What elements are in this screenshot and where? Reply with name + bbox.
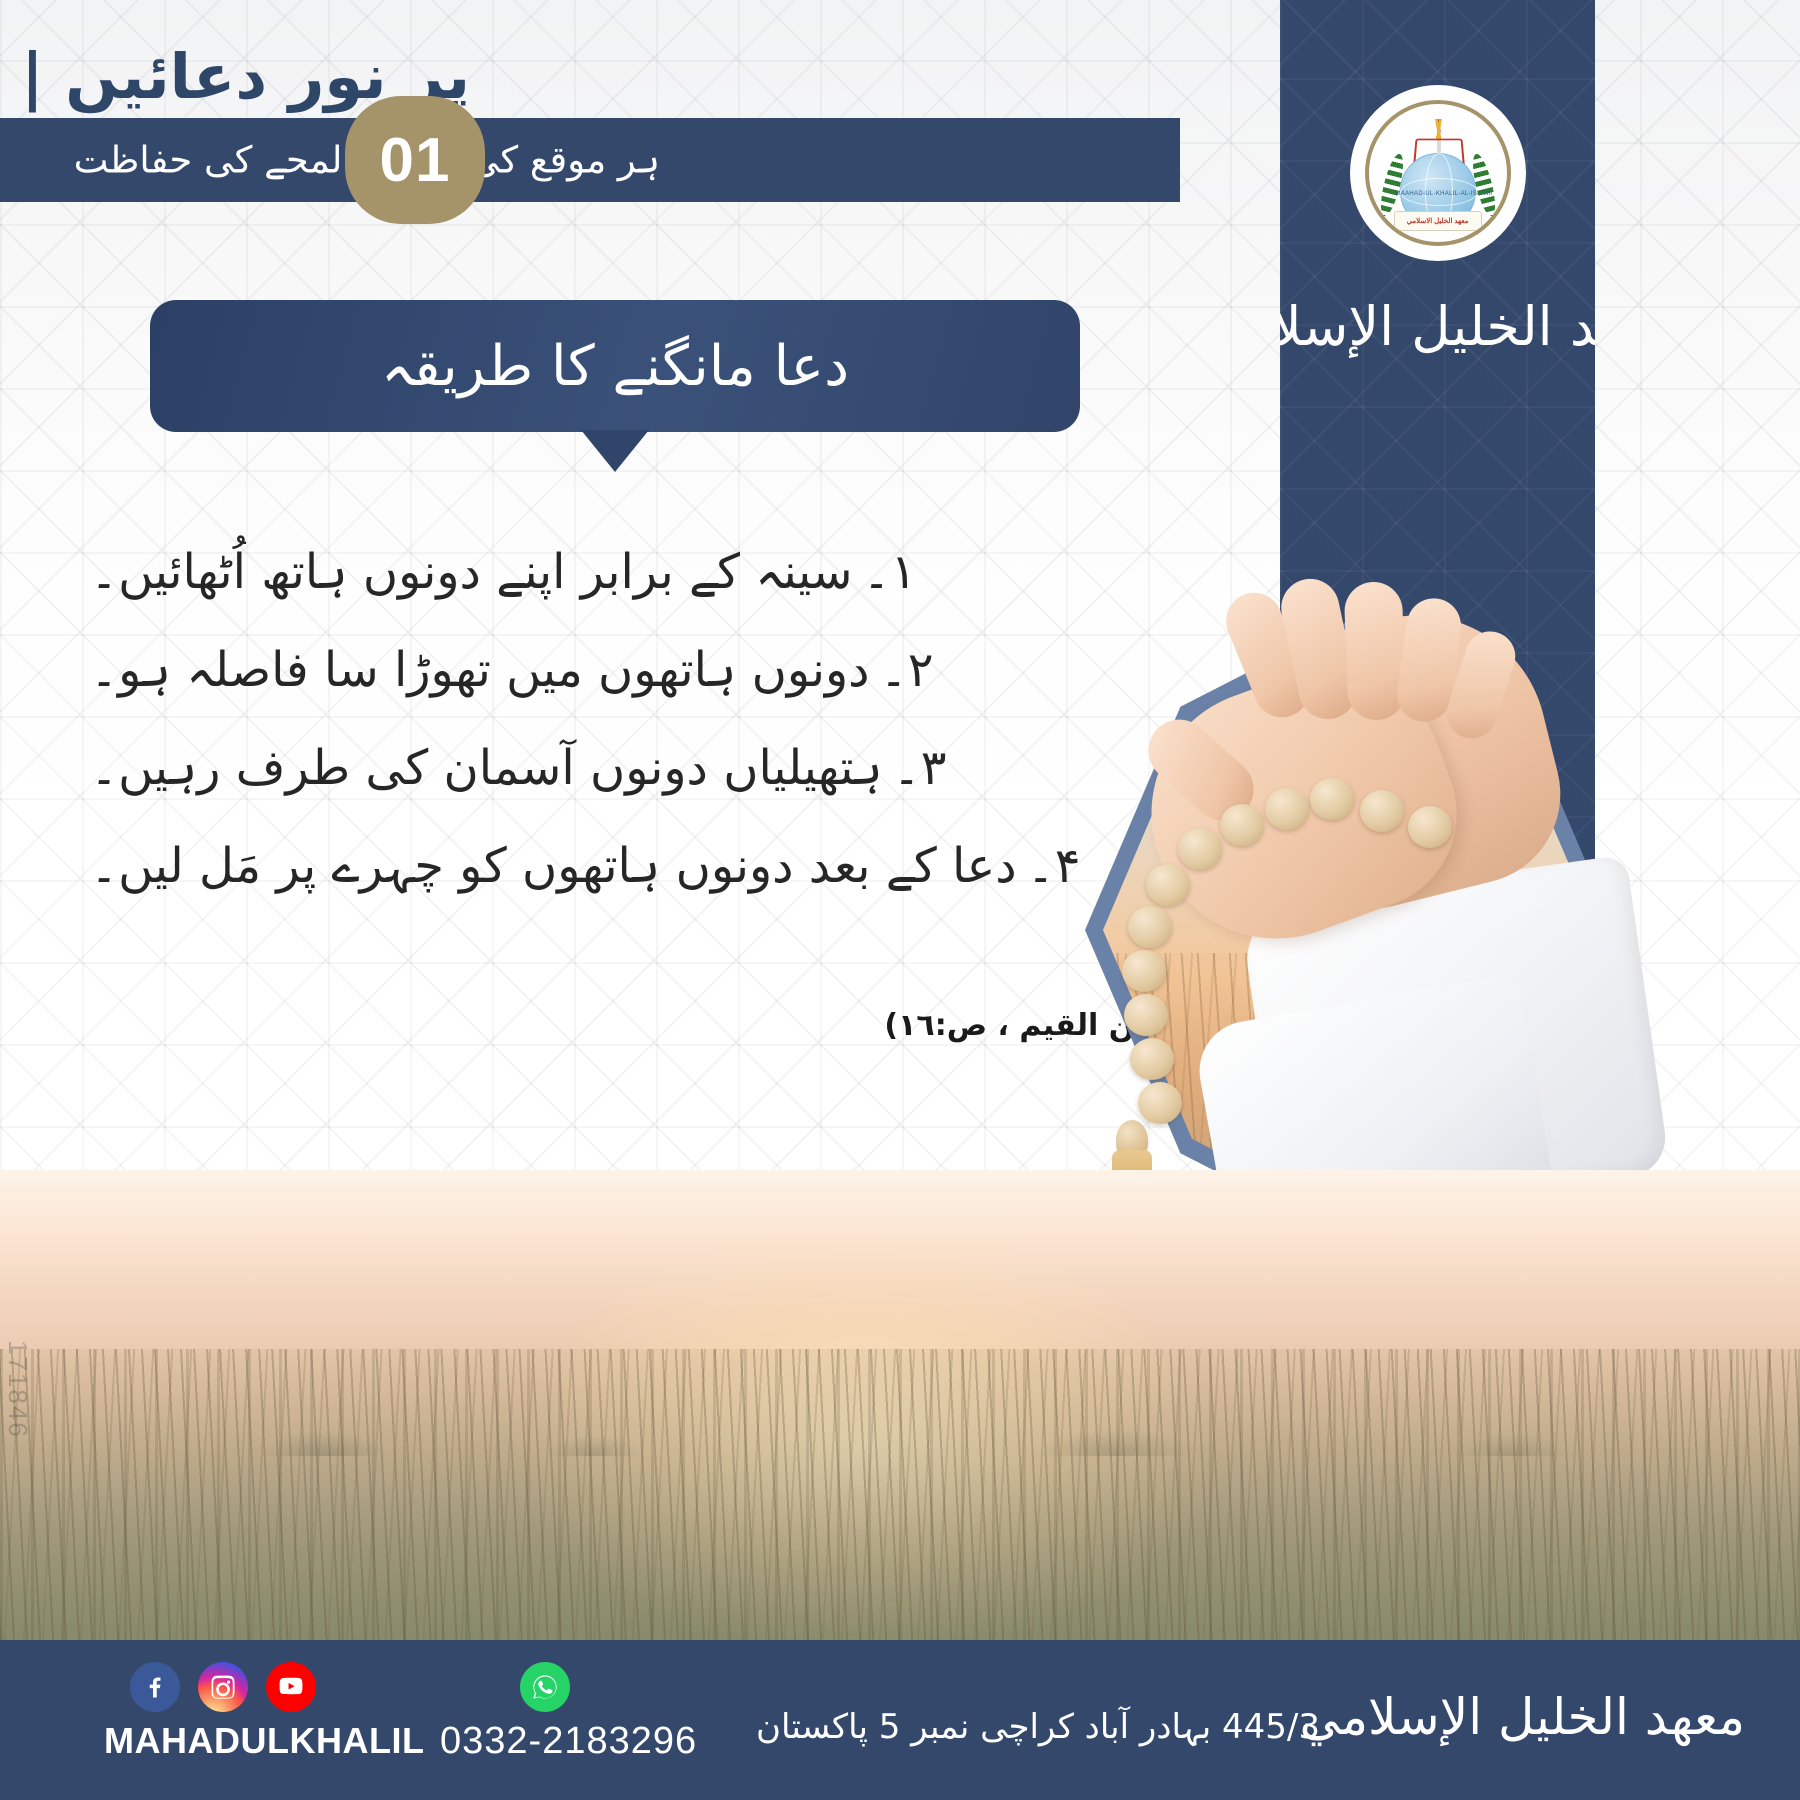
- footer-brand-calligraphy: معهد الخليل الإسلامي: [1300, 1688, 1745, 1746]
- bead: [1360, 790, 1404, 832]
- logo-ring: MAAHAD-UL-KHALIL-AL-ISLAMI معهد الخليل ا…: [1365, 100, 1511, 246]
- header-subbar: ہر موقع کی دعا ہر لمحے کی حفاظت 01: [0, 118, 1180, 202]
- footer-bar: MAHADULKHALIL 0332-2183296 445/3 بہادر آ…: [0, 1640, 1800, 1800]
- poster-root: پر نور دعائیں | بابرکت زندگی ہر موقع کی …: [0, 0, 1800, 1800]
- list-item: ۳۔ ہتھیلیاں دونوں آسمان کی طرف رہیں۔: [90, 744, 1090, 792]
- list-item-number: ۲۔: [880, 646, 934, 694]
- list-item: ۲۔ دونوں ہاتھوں میں تھوڑا سا فاصلہ ہو۔: [90, 646, 1090, 694]
- bead: [1178, 828, 1222, 870]
- brand-calligraphy: معهد الخليل الإسلامي: [1280, 295, 1595, 358]
- episode-number-badge: 01: [345, 96, 485, 224]
- facebook-icon[interactable]: [130, 1662, 180, 1712]
- whatsapp-icon-wrap: [520, 1662, 570, 1712]
- grass-field: [0, 1349, 1800, 1640]
- bead: [1265, 788, 1309, 830]
- logo-artwork: MAAHAD-UL-KHALIL-AL-ISLAMI معهد الخليل ا…: [1378, 113, 1498, 233]
- list-item-text: سینہ کے برابر اپنے دونوں ہاتھ اُٹھائیں۔: [90, 548, 853, 596]
- list-item-number: ۱۔: [863, 548, 917, 596]
- whatsapp-icon[interactable]: [520, 1662, 570, 1712]
- bead: [1146, 864, 1190, 906]
- list-item: ۱۔ سینہ کے برابر اپنے دونوں ہاتھ اُٹھائی…: [90, 548, 1090, 596]
- instruction-list: ۱۔ سینہ کے برابر اپنے دونوں ہاتھ اُٹھائی…: [90, 548, 1090, 940]
- bead: [1138, 1082, 1182, 1124]
- youtube-icon[interactable]: [266, 1662, 316, 1712]
- bead: [1310, 778, 1354, 820]
- bead: [1220, 804, 1264, 846]
- bead: [1122, 950, 1166, 992]
- bead: [1128, 906, 1172, 948]
- bead: [1408, 806, 1452, 848]
- list-item-text: ہتھیلیاں دونوں آسمان کی طرف رہیں۔: [90, 744, 883, 792]
- banner-pointer-tail: [581, 430, 649, 472]
- sunset-landscape: [0, 1170, 1800, 1640]
- tasbeeh-beads: [1060, 760, 1480, 1210]
- list-item-text: دونوں ہاتھوں میں تھوڑا سا فاصلہ ہو۔: [90, 646, 870, 694]
- social-handle: MAHADULKHALIL: [104, 1720, 424, 1762]
- instagram-icon[interactable]: [198, 1662, 248, 1712]
- watermark-text: 171846: [2, 1340, 33, 1439]
- top-section: پر نور دعائیں | بابرکت زندگی ہر موقع کی …: [0, 0, 1800, 1210]
- main-title-banner: دعا مانگنے کا طریقہ: [150, 300, 1080, 432]
- logo-ribbon: معهد الخليل الاسلامي: [1394, 211, 1482, 231]
- bead: [1130, 1038, 1174, 1080]
- social-icon-group: [130, 1662, 316, 1712]
- logo-globe-caption: MAAHAD-UL-KHALIL-AL-ISLAMI: [1396, 191, 1480, 197]
- list-item: ۴۔ دعا کے بعد دونوں ہاتھوں کو چہرے پر مَ…: [90, 842, 1090, 890]
- list-item-text: دعا کے بعد دونوں ہاتھوں کو چہرے پر مَل ل…: [90, 842, 1017, 890]
- bead: [1124, 994, 1168, 1036]
- main-title: دعا مانگنے کا طریقہ: [381, 334, 849, 399]
- institute-logo: MAAHAD-UL-KHALIL-AL-ISLAMI معهد الخليل ا…: [1353, 88, 1523, 258]
- list-item-number: ۳۔: [893, 744, 947, 792]
- phone-number: 0332-2183296: [440, 1720, 697, 1763]
- footer-address: 445/3 بہادر آباد کراچی نمبر 5 پاکستان: [756, 1706, 1320, 1747]
